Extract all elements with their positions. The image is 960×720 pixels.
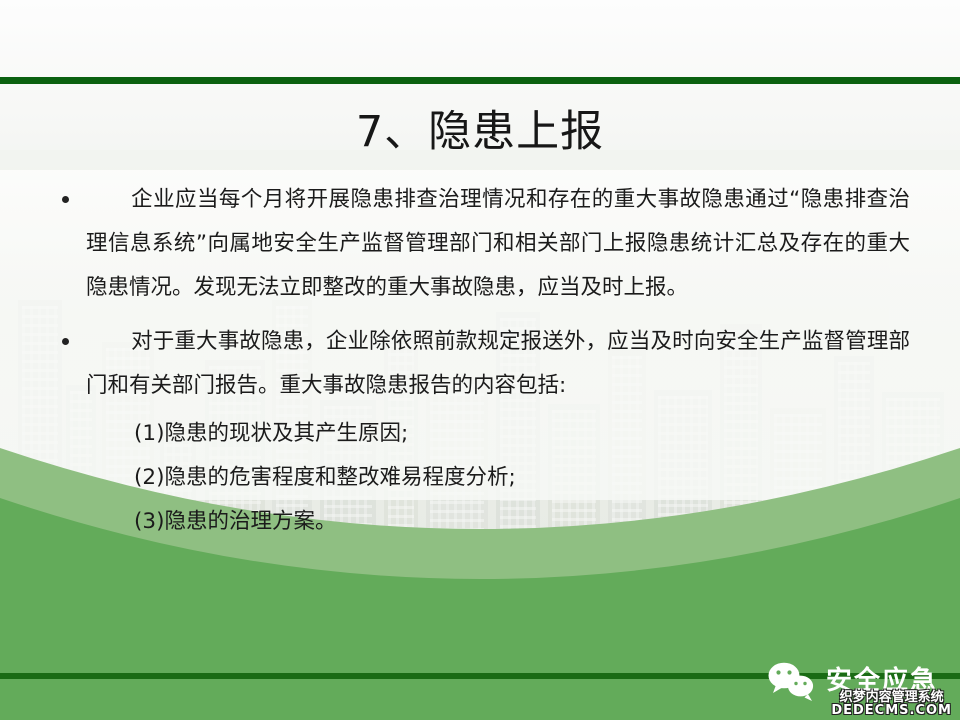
slide-body: 企业应当每个月将开展隐患排查治理情况和存在的重大事故隐患通过“隐患排查治理信息系… (52, 178, 910, 544)
slide-canvas: 7、隐患上报 企业应当每个月将开展隐患排查治理情况和存在的重大事故隐患通过“隐患… (0, 0, 960, 720)
bullet-paragraph: 企业应当每个月将开展隐患排查治理情况和存在的重大事故隐患通过“隐患排查治理信息系… (52, 178, 910, 310)
bullet-paragraph-text: 企业应当每个月将开展隐患排查治理情况和存在的重大事故隐患通过“隐患排查治理信息系… (86, 178, 910, 310)
list-item: (2)隐患的危害程度和整改难易程度分析; (134, 456, 910, 500)
dedecms-watermark: 织梦内容管理系统 DEDECMS.COM (831, 691, 952, 718)
top-divider-rule (0, 77, 960, 84)
numbered-list: (1)隐患的现状及其产生原因; (2)隐患的危害程度和整改难易程度分析; (3)… (52, 412, 910, 544)
bullet-paragraph-text: 对于重大事故隐患，企业除依照前款规定报送外，应当及时向安全生产监督管理部门和有关… (86, 320, 910, 408)
bullet-dot-icon (62, 338, 69, 345)
wechat-icon-glyph (767, 660, 817, 702)
slide-title: 7、隐患上报 (0, 103, 960, 161)
wechat-icon (767, 660, 817, 702)
list-item: (1)隐患的现状及其产生原因; (134, 412, 910, 456)
list-item: (3)隐患的治理方案。 (134, 500, 910, 544)
watermark-line-cn: 织梦内容管理系统 (831, 691, 952, 705)
watermark-line-en: DEDECMS.COM (831, 704, 952, 718)
bullet-paragraph: 对于重大事故隐患，企业除依照前款规定报送外，应当及时向安全生产监督管理部门和有关… (52, 320, 910, 408)
bullet-dot-icon (62, 196, 69, 203)
